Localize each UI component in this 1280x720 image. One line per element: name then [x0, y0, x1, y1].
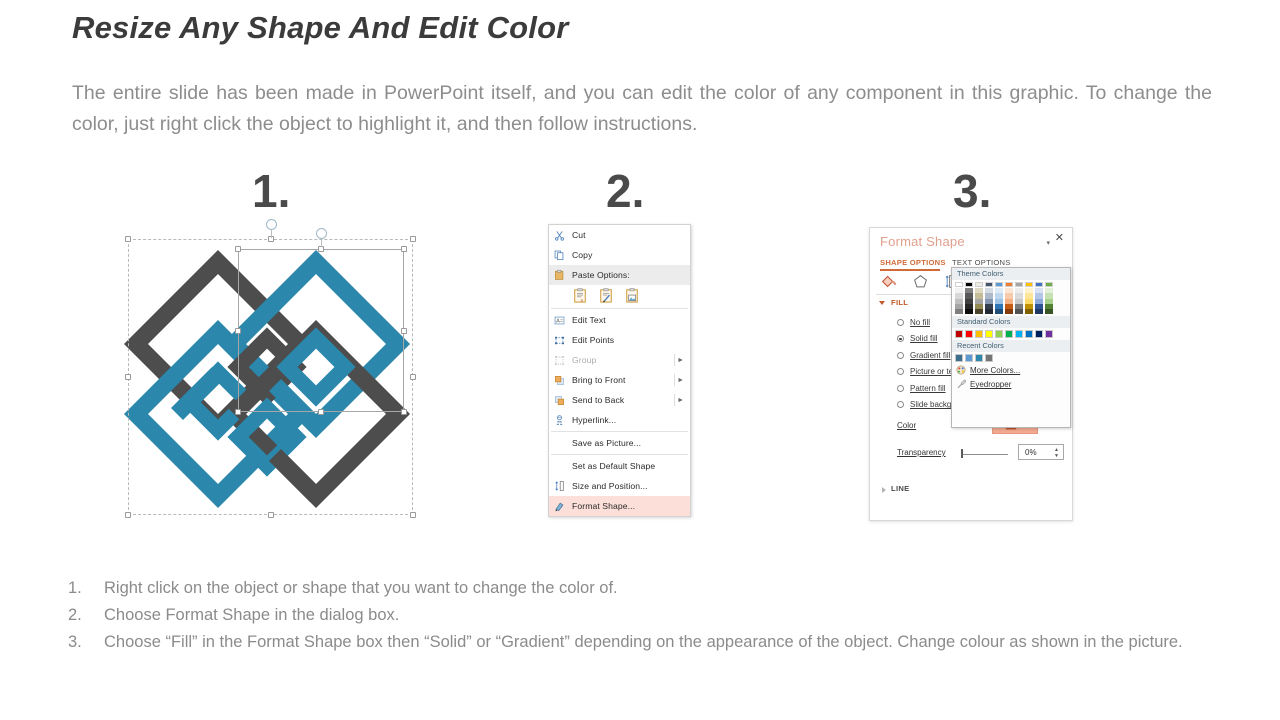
context-menu[interactable]: Cut Copy Paste Options: a [548, 224, 691, 517]
radio-mark [897, 368, 904, 375]
radio-label: No fill [910, 318, 930, 327]
theme-color-swatch[interactable] [965, 282, 973, 287]
theme-colors-header: Theme Colors [952, 268, 1070, 280]
theme-color-swatch[interactable] [955, 309, 963, 314]
radio-mark [897, 335, 904, 342]
group-icon [552, 353, 567, 368]
menu-item-label: Cut [572, 230, 586, 240]
theme-color-column[interactable] [1015, 282, 1023, 314]
theme-color-swatch[interactable] [1035, 309, 1043, 314]
menu-item-label: Save as Picture... [572, 438, 641, 448]
standard-color-swatch[interactable] [1045, 330, 1053, 338]
recent-colors-header: Recent Colors [952, 340, 1070, 352]
rotation-stem-inner [321, 238, 322, 247]
fill-and-line-icon[interactable] [880, 274, 897, 291]
menu-item-label: Send to Back [572, 395, 624, 405]
radio-mark [897, 401, 904, 408]
no-icon-placeholder [552, 436, 567, 451]
edit-text-icon: A [552, 313, 567, 328]
radio-label: Pattern fill [910, 384, 946, 393]
theme-color-swatch[interactable] [1015, 282, 1023, 287]
menu-separator [551, 431, 688, 432]
recent-color-swatch[interactable] [975, 354, 983, 362]
list-item: 1. Right click on the object or shape th… [68, 576, 1278, 601]
rotation-stem-outer [271, 229, 272, 238]
more-colors-item[interactable]: More Colors... [952, 364, 1070, 378]
menu-item-label: Bring to Front [572, 375, 625, 385]
menu-item-hyperlink[interactable]: Hyperlink... [549, 410, 690, 430]
color-picker-dropdown[interactable]: Theme Colors Standard Colors Recent Colo… [951, 267, 1071, 428]
menu-item-edit-text[interactable]: A Edit Text [549, 310, 690, 330]
format-shape-icon [552, 499, 567, 514]
scissors-icon [552, 228, 567, 243]
selection-handle-sw[interactable] [125, 512, 131, 518]
section-header-line[interactable]: LINE [891, 484, 910, 493]
theme-color-swatch[interactable] [1015, 309, 1023, 314]
menu-item-group: Group ► [549, 350, 690, 370]
tab-text-options[interactable]: TEXT OPTIONS [952, 258, 1011, 267]
selection-handle-se[interactable] [410, 512, 416, 518]
recent-color-swatch[interactable] [965, 354, 973, 362]
standard-color-swatch[interactable] [1005, 330, 1013, 338]
theme-color-column[interactable] [1025, 282, 1033, 314]
close-icon[interactable]: ✕ [1055, 233, 1064, 244]
more-colors-label: More Colors... [970, 366, 1020, 375]
menu-item-save-as-picture[interactable]: Save as Picture... [549, 433, 690, 453]
standard-colors-row[interactable] [952, 328, 1070, 340]
standard-colors-header: Standard Colors [952, 316, 1070, 328]
hyperlink-icon [552, 413, 567, 428]
step-number-2: 2. [606, 168, 644, 214]
menu-item-copy[interactable]: Copy [549, 245, 690, 265]
tab-shape-options[interactable]: SHAPE OPTIONS [880, 258, 946, 267]
chevron-right-icon: ► [677, 357, 684, 364]
transparency-spinner[interactable]: 0% ▲▼ [1018, 444, 1064, 460]
color-label: Color [897, 421, 916, 430]
list-item: 2. Choose Format Shape in the dialog box… [68, 603, 1278, 628]
theme-color-column[interactable] [1005, 282, 1013, 314]
selection-handle-nw[interactable] [125, 236, 131, 242]
menu-item-label: Hyperlink... [572, 415, 616, 425]
paste-icon [552, 268, 567, 283]
inner-selection-handle-w[interactable] [235, 328, 241, 334]
selection-handle-ne[interactable] [410, 236, 416, 242]
format-shape-toolbar[interactable] [880, 274, 957, 291]
inner-selection-handle-e[interactable] [401, 328, 407, 334]
standard-color-swatch[interactable] [965, 330, 973, 338]
svg-text:A: A [556, 318, 560, 324]
menu-item-label: Size and Position... [572, 481, 648, 491]
theme-color-swatch[interactable] [1025, 309, 1033, 314]
transparency-value: 0% [1019, 448, 1037, 457]
standard-color-swatch[interactable] [995, 330, 1003, 338]
inner-selection-handle-se[interactable] [401, 409, 407, 415]
menu-item-bring-to-front[interactable]: Bring to Front ► [549, 370, 690, 390]
list-item-text: Choose “Fill” in the Format Shape box th… [104, 630, 1278, 655]
list-item-number: 3. [68, 630, 104, 655]
triangle-right-icon[interactable] [882, 487, 886, 493]
rotation-handle-inner[interactable] [316, 228, 327, 239]
radio-mark [897, 319, 904, 326]
menu-item-label: Set as Default Shape [572, 461, 655, 471]
paste-merge-icon[interactable] [599, 288, 613, 305]
shape-illustration-panel [120, 222, 426, 532]
theme-color-swatch[interactable] [1045, 282, 1053, 287]
standard-color-swatch[interactable] [1035, 330, 1043, 338]
step-number-1: 1. [252, 168, 290, 214]
recent-color-swatch[interactable] [985, 354, 993, 362]
menu-item-label: Edit Points [572, 335, 614, 345]
instructions-list: 1. Right click on the object or shape th… [68, 576, 1278, 657]
list-item-number: 2. [68, 603, 104, 628]
menu-item-send-to-back[interactable]: Send to Back ► [549, 390, 690, 410]
radio-label: Solid fill [910, 334, 938, 343]
theme-color-column[interactable] [1035, 282, 1043, 314]
menu-item-cut[interactable]: Cut [549, 225, 690, 245]
theme-color-column[interactable] [965, 282, 973, 314]
format-shape-title: Format Shape [880, 234, 965, 249]
edit-points-icon [552, 333, 567, 348]
menu-item-size-and-position[interactable]: Size and Position... [549, 476, 690, 496]
list-item-text: Right click on the object or shape that … [104, 576, 1278, 601]
theme-color-column[interactable] [1045, 282, 1053, 314]
menu-submenu-divider [674, 354, 675, 366]
theme-colors-grid[interactable] [952, 280, 1070, 314]
theme-color-column[interactable] [985, 282, 993, 314]
transparency-slider-track[interactable] [963, 454, 1008, 455]
menu-item-label: Edit Text [572, 315, 606, 325]
theme-color-swatch[interactable] [965, 309, 973, 314]
triangle-down-icon[interactable] [879, 301, 885, 305]
menu-item-label: Copy [572, 250, 592, 260]
send-back-icon [552, 393, 567, 408]
inner-selection-handle-s[interactable] [318, 409, 324, 415]
menu-submenu-divider [674, 394, 675, 406]
selection-handle-e[interactable] [410, 374, 416, 380]
theme-color-column[interactable] [995, 282, 1003, 314]
theme-color-swatch[interactable] [1045, 309, 1053, 314]
menu-item-label: Format Shape... [572, 501, 635, 511]
menu-submenu-divider [674, 374, 675, 386]
transparency-label: Transparency [897, 448, 946, 457]
palette-icon [956, 365, 966, 377]
inner-selection-handle-nw[interactable] [235, 246, 241, 252]
chevron-right-icon: ► [677, 377, 684, 384]
effects-icon[interactable] [913, 274, 928, 291]
theme-color-swatch[interactable] [975, 309, 983, 314]
eyedropper-label: Eyedropper [970, 380, 1011, 389]
theme-color-swatch[interactable] [995, 309, 1003, 314]
active-tab-underline [880, 269, 940, 271]
theme-color-column[interactable] [975, 282, 983, 314]
standard-color-swatch[interactable] [1025, 330, 1033, 338]
theme-color-swatch[interactable] [995, 282, 1003, 287]
inner-selection-handle-sw[interactable] [235, 409, 241, 415]
spinner-arrows-icon[interactable]: ▲▼ [1054, 446, 1059, 460]
menu-item-paste-options: Paste Options: [549, 265, 690, 285]
recent-color-swatch[interactable] [955, 354, 963, 362]
page-title: Resize Any Shape And Edit Color [72, 10, 569, 46]
paste-keep-source-icon[interactable]: a [573, 288, 587, 305]
page-subtitle: The entire slide has been made in PowerP… [72, 78, 1212, 140]
list-item-text: Choose Format Shape in the dialog box. [104, 603, 1278, 628]
theme-color-swatch[interactable] [985, 309, 993, 314]
size-position-icon [552, 479, 567, 494]
theme-color-swatch[interactable] [1025, 282, 1033, 287]
standard-color-swatch[interactable] [1015, 330, 1023, 338]
inner-selection-frame[interactable] [238, 249, 404, 412]
theme-color-swatch[interactable] [1005, 282, 1013, 287]
selection-handle-w[interactable] [125, 374, 131, 380]
menu-item-set-default-shape[interactable]: Set as Default Shape [549, 456, 690, 476]
standard-color-swatch[interactable] [975, 330, 983, 338]
theme-color-swatch[interactable] [955, 282, 963, 287]
paste-picture-icon[interactable] [625, 288, 639, 305]
chevron-right-icon: ► [677, 397, 684, 404]
radio-mark [897, 352, 904, 359]
theme-color-swatch[interactable] [1005, 309, 1013, 314]
standard-color-swatch[interactable] [985, 330, 993, 338]
list-item: 3. Choose “Fill” in the Format Shape box… [68, 630, 1278, 655]
eyedropper-item[interactable]: Eyedropper [952, 378, 1070, 392]
eyedropper-icon [956, 379, 966, 391]
bring-front-icon [552, 373, 567, 388]
radio-mark [897, 385, 904, 392]
recent-colors-row[interactable] [952, 352, 1070, 364]
slide-canvas: Resize Any Shape And Edit Color The enti… [0, 0, 1280, 720]
inner-selection-handle-ne[interactable] [401, 246, 407, 252]
no-icon-placeholder [552, 459, 567, 474]
menu-item-edit-points[interactable]: Edit Points [549, 330, 690, 350]
menu-separator [551, 308, 688, 309]
menu-item-label: Paste Options: [572, 270, 630, 280]
step-number-3: 3. [953, 168, 991, 214]
theme-color-swatch[interactable] [975, 282, 983, 287]
theme-color-swatch[interactable] [985, 282, 993, 287]
theme-color-column[interactable] [955, 282, 963, 314]
menu-separator [551, 454, 688, 455]
chevron-down-icon[interactable]: ▾ [1046, 239, 1050, 247]
theme-color-swatch[interactable] [1035, 282, 1043, 287]
copy-icon [552, 248, 567, 263]
rotation-handle-outer[interactable] [266, 219, 277, 230]
section-header-fill[interactable]: FILL [891, 298, 908, 307]
radio-label: Gradient fill [910, 351, 950, 360]
standard-color-swatch[interactable] [955, 330, 963, 338]
menu-item-label: Group [572, 355, 596, 365]
paste-options-row[interactable]: a [549, 285, 690, 307]
menu-item-format-shape[interactable]: Format Shape... [549, 496, 690, 516]
list-item-number: 1. [68, 576, 104, 601]
selection-handle-s[interactable] [268, 512, 274, 518]
